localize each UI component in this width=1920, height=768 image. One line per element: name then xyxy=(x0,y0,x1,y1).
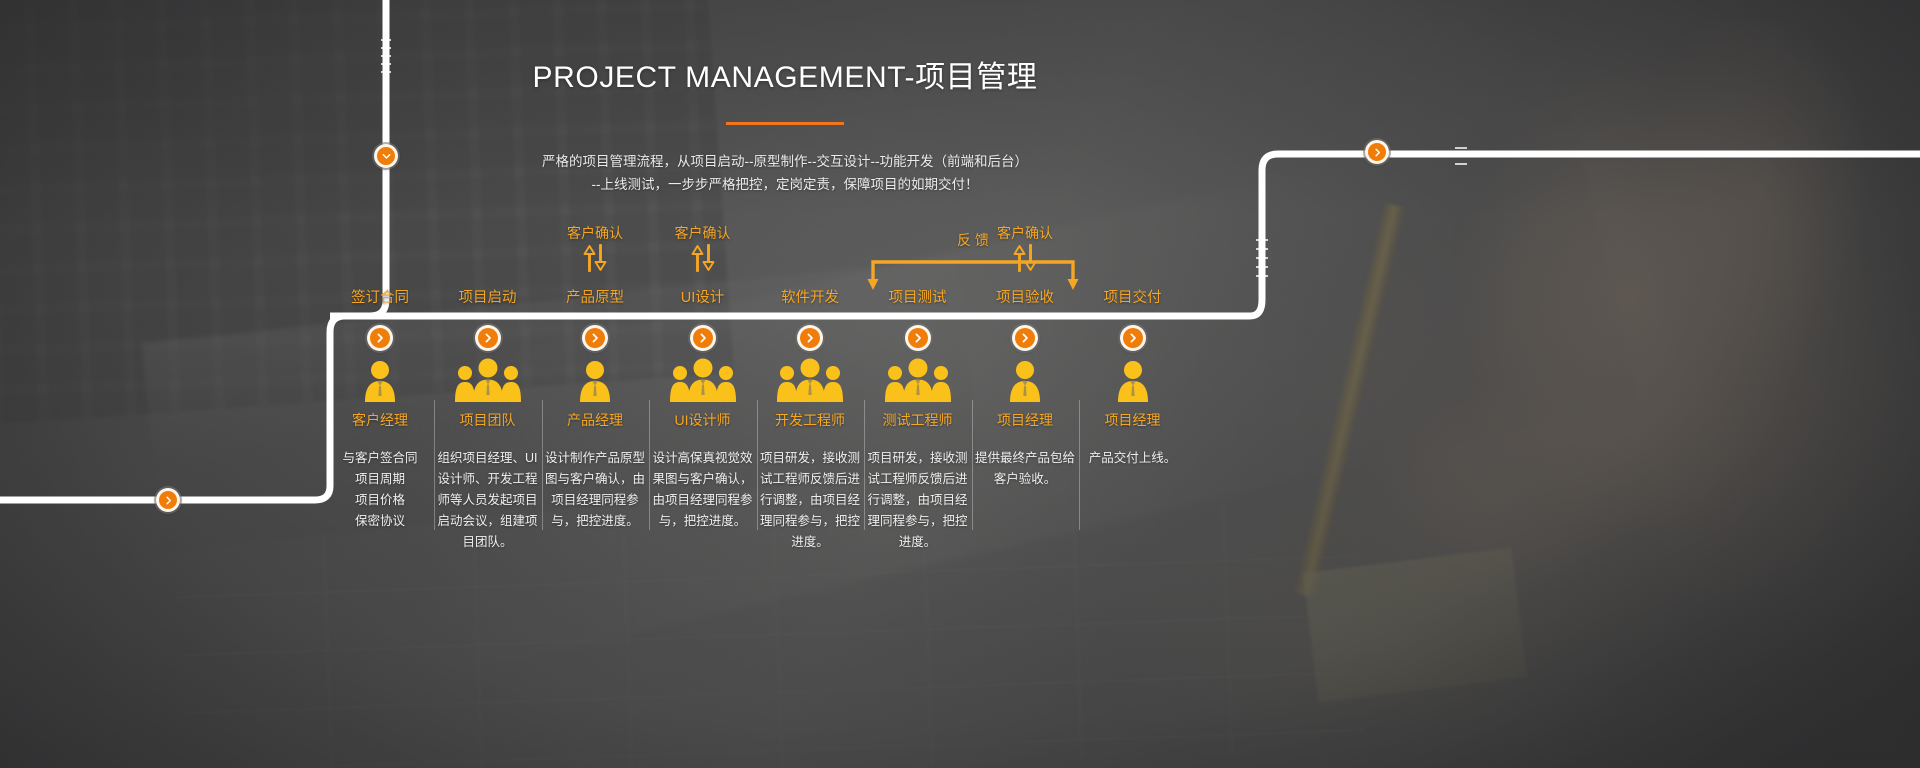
step-updown-arrows xyxy=(1012,244,1038,277)
step-node-marker[interactable] xyxy=(582,325,608,351)
rail-node-bottom-left[interactable] xyxy=(156,488,180,512)
chevron-right-icon xyxy=(164,496,173,505)
step-detail-text: 提供最终产品包给客户验收。 xyxy=(970,448,1080,490)
chevron-right-icon xyxy=(590,333,600,343)
timeline-step-1[interactable]: 签订合同客户经理与客户签合同 项目周期 项目价格 保密协议 xyxy=(325,224,435,532)
timeline-step-3[interactable]: 客户确认产品原型产品经理设计制作产品原型图与客户确认，由项目经理同程参与，把控进… xyxy=(540,224,650,532)
step-stage-label: UI设计 xyxy=(648,286,758,308)
step-detail-text: 设计制作产品原型图与客户确认，由项目经理同程参与，把控进度。 xyxy=(540,448,650,532)
step-role-label: 开发工程师 xyxy=(755,410,865,430)
step-role-label: 测试工程师 xyxy=(863,410,973,430)
up-down-arrow-icon xyxy=(582,244,608,272)
step-node-slot xyxy=(325,308,435,348)
step-node-marker[interactable] xyxy=(1012,325,1038,351)
chevron-right-icon xyxy=(1373,148,1382,157)
step-node-marker[interactable] xyxy=(475,325,501,351)
person-icon xyxy=(1008,360,1042,402)
chevron-right-icon xyxy=(483,333,493,343)
step-detail-text: 产品交付上线。 xyxy=(1078,448,1188,469)
step-detail-text: 项目研发，接收测试工程师反馈后进行调整，由项目经理同程参与，把控进度。 xyxy=(755,448,865,553)
step-detail-text: 组织项目经理、UI设计师、开发工程师等人员发起项目启动会议，组建项目团队。 xyxy=(433,448,543,553)
step-annotation: 客户确认 xyxy=(970,224,1080,286)
step-annotation: 客户确认 xyxy=(540,224,650,286)
step-role-label: 项目经理 xyxy=(1078,410,1188,430)
step-annotation: 客户确认 xyxy=(648,224,758,286)
step-role-label: 项目经理 xyxy=(970,410,1080,430)
step-node-marker[interactable] xyxy=(797,325,823,351)
step-stage-label: 签订合同 xyxy=(325,286,435,308)
step-annotation-label: 客户确认 xyxy=(648,224,758,242)
step-stage-label: 项目交付 xyxy=(1078,286,1188,308)
chevron-right-icon xyxy=(1128,333,1138,343)
up-down-arrow-icon xyxy=(690,244,716,272)
rail-node-top-right[interactable] xyxy=(1365,140,1389,164)
step-annotation xyxy=(325,224,435,286)
chevron-right-icon xyxy=(1020,333,1030,343)
step-stage-label: 项目验收 xyxy=(970,286,1080,308)
step-role-label: 项目团队 xyxy=(433,410,543,430)
people-group-icon xyxy=(777,358,843,402)
step-node-slot xyxy=(1078,308,1188,348)
step-people-icon xyxy=(540,348,650,402)
step-node-marker[interactable] xyxy=(1120,325,1146,351)
step-people-icon xyxy=(755,348,865,402)
step-annotation xyxy=(755,224,865,286)
step-people-icon xyxy=(970,348,1080,402)
step-people-icon xyxy=(1078,348,1188,402)
step-node-marker[interactable] xyxy=(367,325,393,351)
step-updown-arrows xyxy=(582,244,608,277)
step-people-icon xyxy=(325,348,435,402)
people-group-icon xyxy=(455,358,521,402)
people-group-icon xyxy=(885,358,951,402)
step-node-slot xyxy=(648,308,758,348)
step-people-icon xyxy=(648,348,758,402)
person-icon xyxy=(363,360,397,402)
step-detail-text: 项目研发，接收测试工程师反馈后进行调整，由项目经理同程参与，把控进度。 xyxy=(863,448,973,553)
step-node-slot xyxy=(755,308,865,348)
project-management-infographic: PROJECT MANAGEMENT-项目管理 严格的项目管理流程，从项目启动-… xyxy=(0,0,1920,768)
timeline: 签订合同客户经理与客户签合同 项目周期 项目价格 保密协议项目启动项目团队组织项… xyxy=(380,224,1260,554)
step-stage-label: 软件开发 xyxy=(755,286,865,308)
step-annotation xyxy=(1078,224,1188,286)
step-annotation-label: 客户确认 xyxy=(970,224,1080,242)
step-annotation xyxy=(433,224,543,286)
timeline-step-5[interactable]: 软件开发开发工程师项目研发，接收测试工程师反馈后进行调整，由项目经理同程参与，把… xyxy=(755,224,865,553)
timeline-step-2[interactable]: 项目启动项目团队组织项目经理、UI设计师、开发工程师等人员发起项目启动会议，组建… xyxy=(433,224,543,553)
timeline-step-6[interactable]: 项目测试测试工程师项目研发，接收测试工程师反馈后进行调整，由项目经理同程参与，把… xyxy=(863,224,973,553)
step-stage-label: 项目测试 xyxy=(863,286,973,308)
chevron-down-icon xyxy=(382,152,391,161)
step-role-label: 产品经理 xyxy=(540,410,650,430)
step-stage-label: 产品原型 xyxy=(540,286,650,308)
step-node-slot xyxy=(863,308,973,348)
step-node-slot xyxy=(970,308,1080,348)
step-node-marker[interactable] xyxy=(905,325,931,351)
step-node-slot xyxy=(433,308,543,348)
rail-node-top-left[interactable] xyxy=(374,144,398,168)
chevron-right-icon xyxy=(375,333,385,343)
chevron-right-icon xyxy=(913,333,923,343)
step-people-icon xyxy=(863,348,973,402)
step-updown-arrows xyxy=(690,244,716,277)
up-down-arrow-icon xyxy=(1012,244,1038,272)
step-role-label: 客户经理 xyxy=(325,410,435,430)
step-annotation-label: 客户确认 xyxy=(540,224,650,242)
timeline-step-4[interactable]: 客户确认UI设计UI设计师设计高保真视觉效果图与客户确认，由项目经理同程参与，把… xyxy=(648,224,758,532)
people-group-icon xyxy=(670,358,736,402)
step-node-marker[interactable] xyxy=(690,325,716,351)
timeline-step-7[interactable]: 客户确认项目验收项目经理提供最终产品包给客户验收。 xyxy=(970,224,1080,490)
chevron-right-icon xyxy=(698,333,708,343)
step-detail-text: 设计高保真视觉效果图与客户确认，由项目经理同程参与，把控进度。 xyxy=(648,448,758,532)
step-stage-label: 项目启动 xyxy=(433,286,543,308)
person-icon xyxy=(1116,360,1150,402)
step-node-slot xyxy=(540,308,650,348)
step-role-label: UI设计师 xyxy=(648,410,758,430)
timeline-step-8[interactable]: 项目交付项目经理产品交付上线。 xyxy=(1078,224,1188,469)
step-people-icon xyxy=(433,348,543,402)
person-icon xyxy=(578,360,612,402)
step-detail-text: 与客户签合同 项目周期 项目价格 保密协议 xyxy=(325,448,435,532)
step-annotation xyxy=(863,224,973,286)
chevron-right-icon xyxy=(805,333,815,343)
